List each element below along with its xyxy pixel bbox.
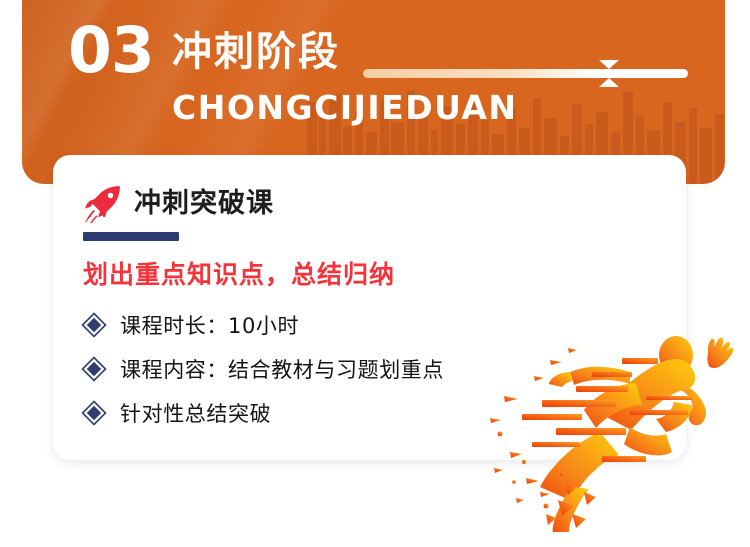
course-header: 冲刺突破课 xyxy=(83,183,274,223)
diamond-bullet-icon xyxy=(81,312,107,338)
triangle-up-icon xyxy=(599,78,619,87)
stage-title-cn: 冲刺阶段 xyxy=(172,32,340,72)
header-decoration-bar xyxy=(363,60,688,86)
list-item: 针对性总结突破 xyxy=(81,391,601,435)
list-item-label: 课程内容：结合教材与习题划重点 xyxy=(120,354,444,384)
title-underline xyxy=(83,232,179,241)
list-item: 课程内容：结合教材与习题划重点 xyxy=(81,347,601,391)
triangle-down-icon xyxy=(599,60,619,69)
rocket-icon xyxy=(83,183,123,223)
list-item-label: 课程时长：10小时 xyxy=(120,310,299,340)
list-item: 课程时长：10小时 xyxy=(81,303,601,347)
diamond-bullet-icon xyxy=(81,400,107,426)
course-title: 冲刺突破课 xyxy=(134,190,274,217)
course-headline: 划出重点知识点，总结归纳 xyxy=(83,255,395,291)
progress-bar xyxy=(363,69,688,78)
list-item-label: 针对性总结突破 xyxy=(120,398,271,428)
course-feature-list: 课程时长：10小时 课程内容：结合教材与习题划重点 xyxy=(81,303,601,435)
stage-number: 03 xyxy=(68,19,154,82)
course-card: 冲刺突破课 划出重点知识点，总结归纳 课程时长：10小时 xyxy=(53,155,686,460)
stage-title-en: CHONGCIJIEDUAN xyxy=(172,90,518,126)
diamond-bullet-icon xyxy=(81,356,107,382)
